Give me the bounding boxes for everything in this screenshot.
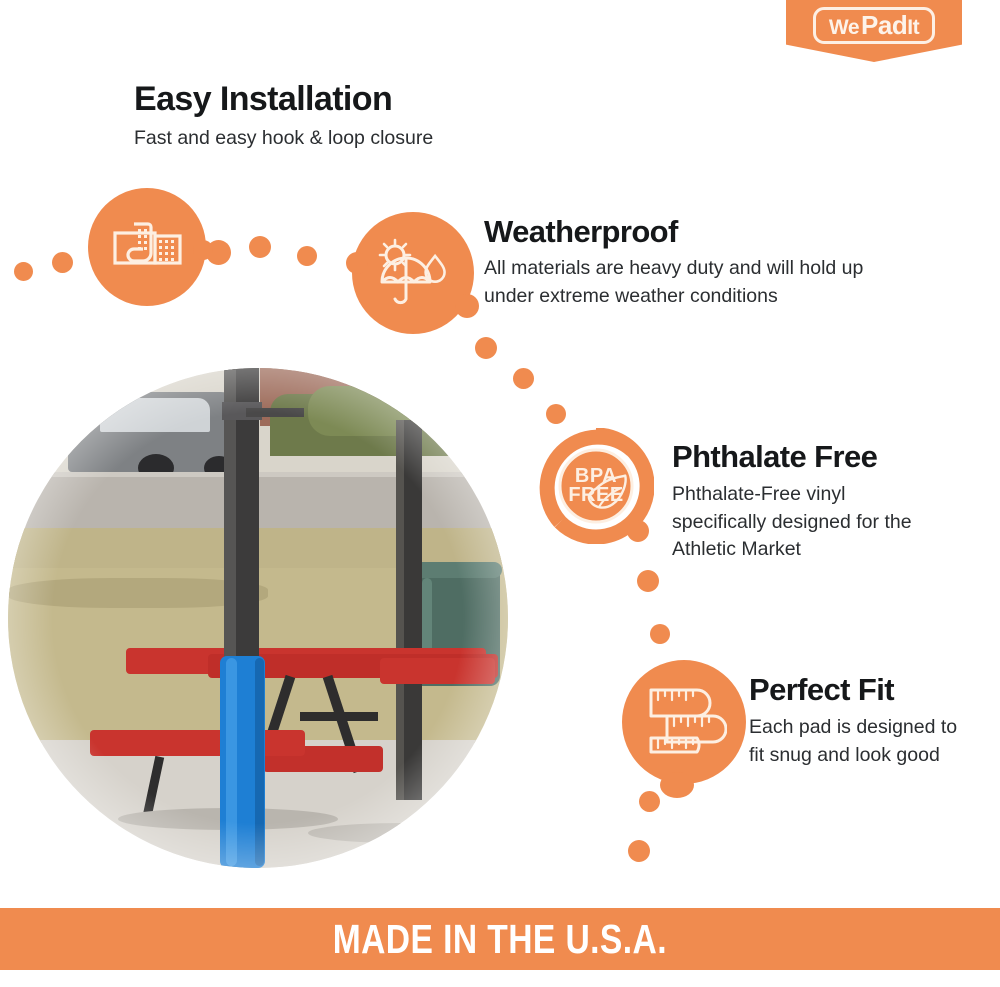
trail-dot: [297, 246, 317, 266]
feature-description-weatherproof: All materials are heavy duty and will ho…: [484, 255, 904, 310]
logo-text-we: We: [829, 17, 859, 38]
trail-dot: [513, 368, 534, 389]
trail-dot: [546, 404, 566, 424]
feature-title-perfect-fit: Perfect Fit: [749, 672, 894, 708]
photo-vignette: [8, 368, 508, 868]
bubble-bump: [455, 294, 479, 318]
feature-description-perfect-fit: Each pad is designed to fit snug and loo…: [749, 714, 977, 769]
brand-logo: We Pad It: [786, 0, 962, 62]
icon-bubble-weatherproof: [352, 212, 474, 334]
logo-outline-box: We Pad It: [813, 7, 935, 44]
feature-title-easy-installation: Easy Installation: [134, 80, 392, 119]
bubble-bump: [193, 240, 213, 260]
bpa-free-leaf-icon: BPA FREE: [538, 428, 654, 544]
icon-bubble-phthalate-free: BPA FREE: [538, 428, 654, 544]
trail-dot: [475, 337, 497, 359]
feature-description-phthalate-free: Phthalate-Free vinyl specifically design…: [672, 481, 942, 564]
product-photo: [8, 368, 508, 868]
trail-dot: [637, 570, 659, 592]
logo-text-it: It: [907, 17, 919, 38]
trail-dot: [52, 252, 73, 273]
bubble-bump: [660, 772, 694, 798]
logo-text-pad: Pad: [861, 12, 907, 38]
velcro-hook-loop-icon: [112, 219, 182, 275]
icon-bubble-easy-installation: [88, 188, 206, 306]
trail-dot: [650, 624, 670, 644]
bubble-bump: [346, 252, 368, 274]
trail-dot: [249, 236, 271, 258]
feature-title-weatherproof: Weatherproof: [484, 214, 678, 250]
trail-dot: [14, 262, 33, 281]
feature-description-easy-installation: Fast and easy hook & loop closure: [134, 125, 433, 153]
infographic-canvas: We Pad It Easy Installation Fast and eas…: [0, 0, 1000, 987]
feature-title-phthalate-free: Phthalate Free: [672, 439, 877, 475]
made-in-usa-banner: MADE IN THE U.S.A.: [0, 908, 1000, 970]
icon-bubble-perfect-fit: [622, 660, 746, 784]
trail-dot: [639, 791, 660, 812]
made-in-usa-text: MADE IN THE U.S.A.: [333, 916, 667, 963]
measuring-tape-icon: [641, 680, 727, 764]
logo-shield-shape: We Pad It: [786, 0, 962, 62]
trail-dot: [628, 840, 650, 862]
sun-umbrella-raindrop-icon: [374, 237, 452, 309]
